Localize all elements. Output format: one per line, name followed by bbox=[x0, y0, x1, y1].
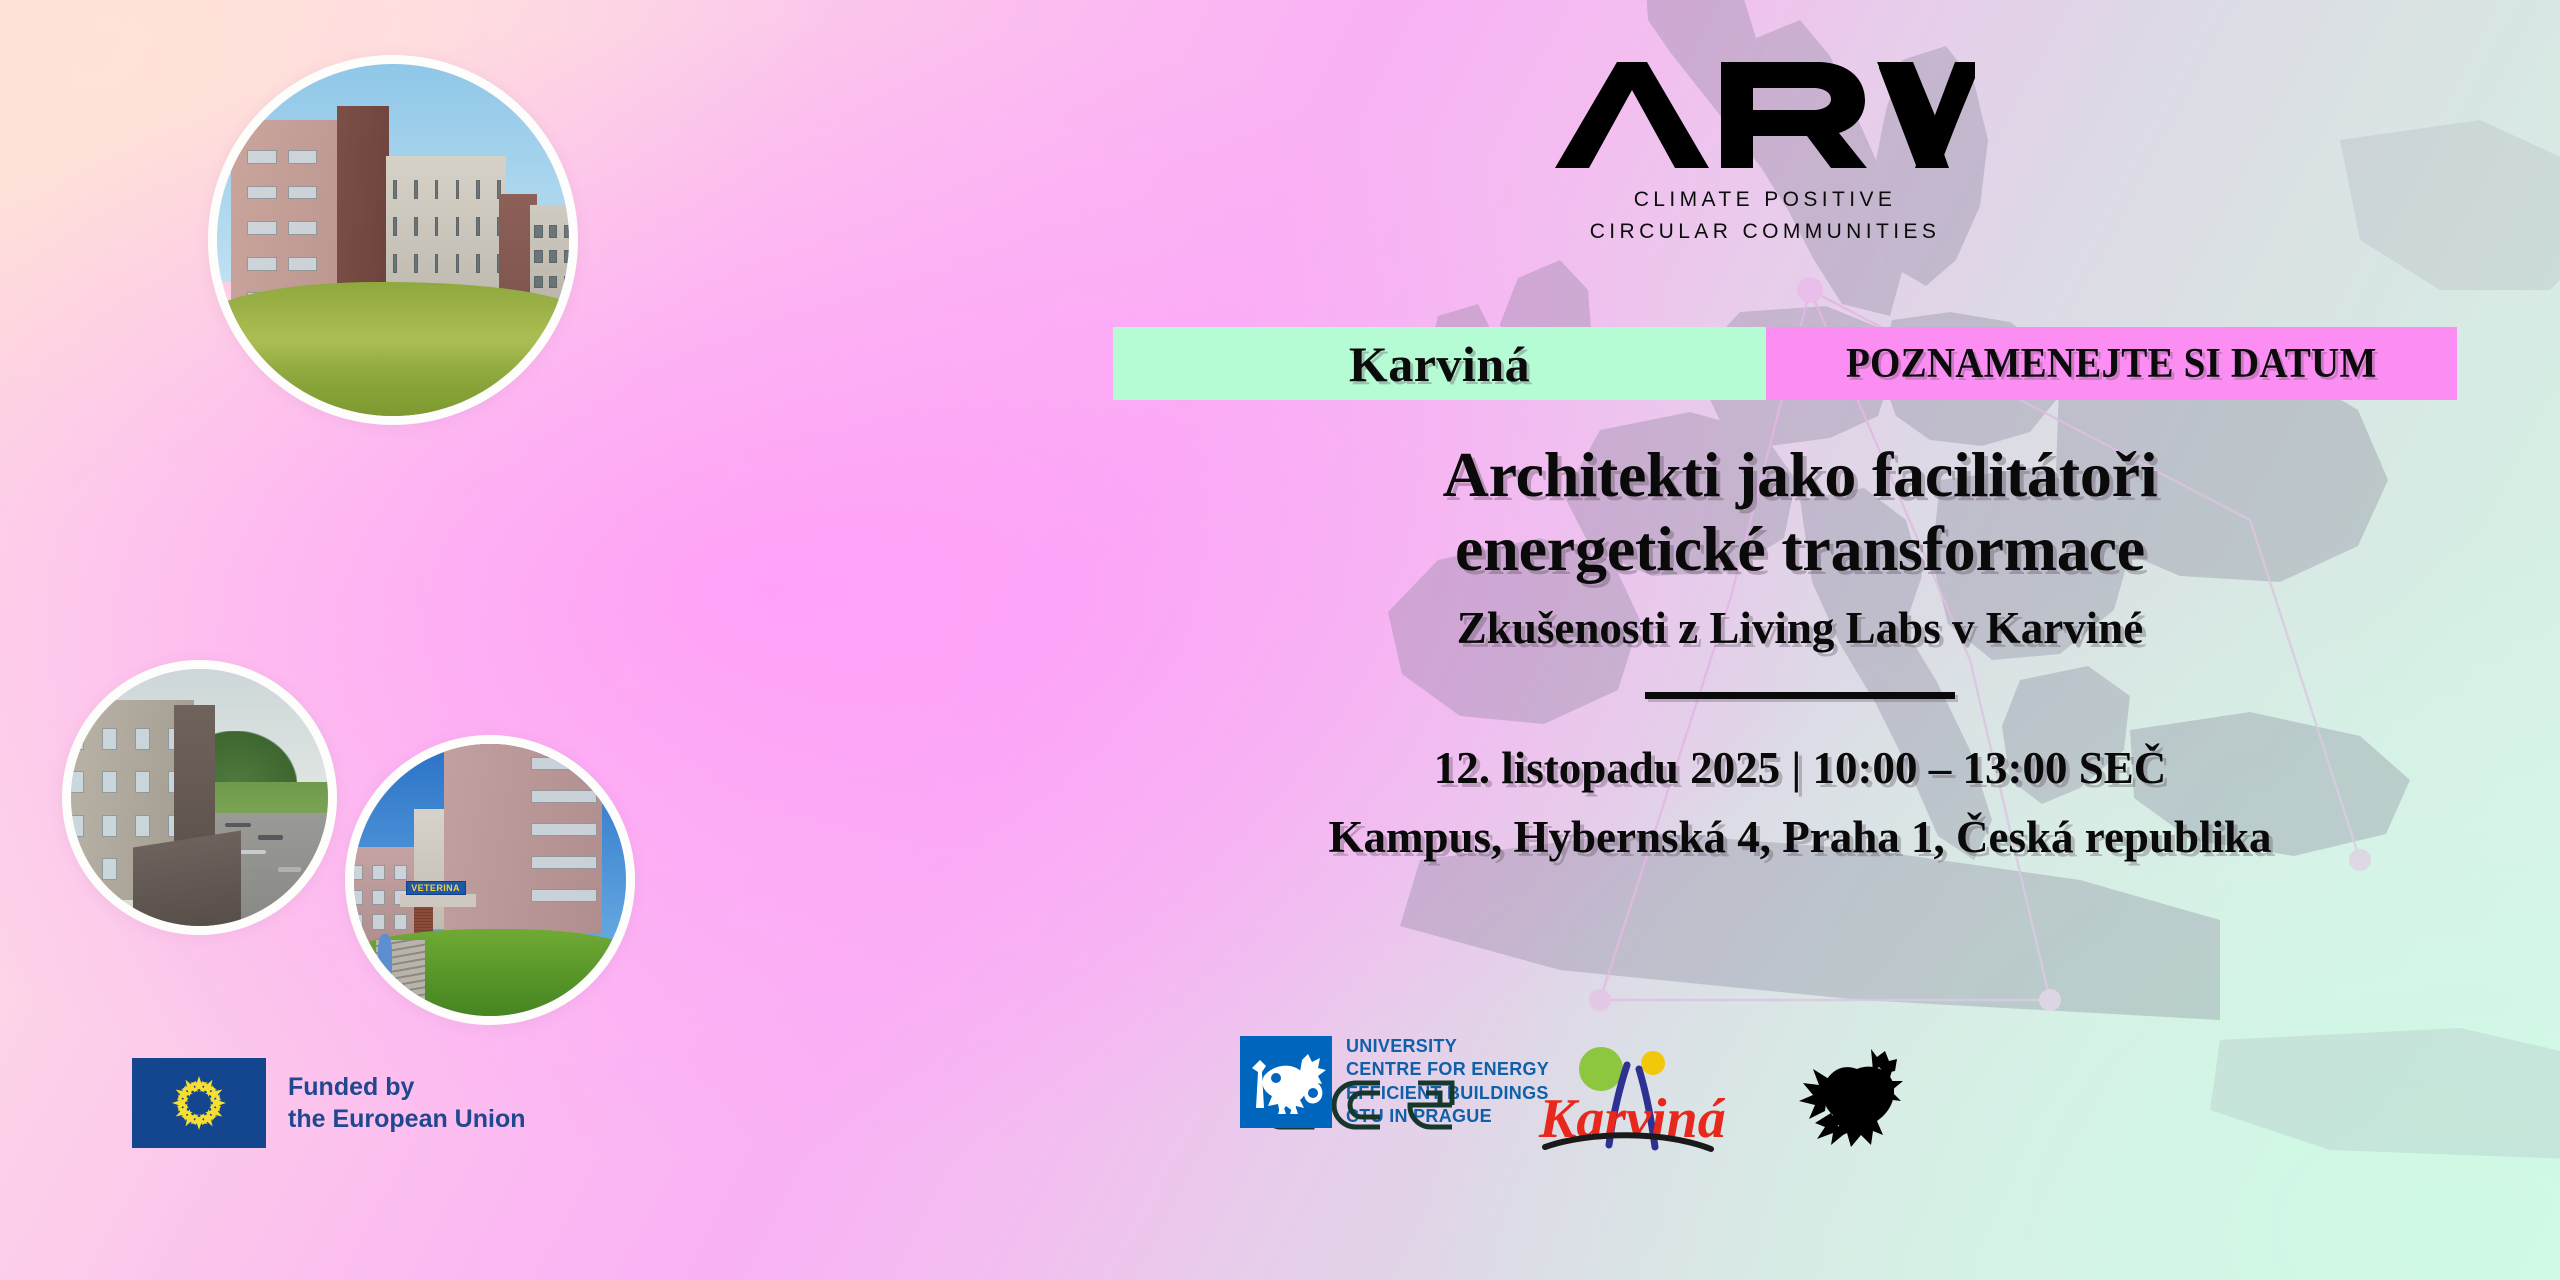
event-subtitle: Zkušenosti z Living Labs v Karviné bbox=[1110, 603, 2490, 654]
partner-logos: Karviná bbox=[1240, 1035, 2450, 1165]
photo-meadow-front bbox=[208, 346, 578, 425]
photo-entrance-canopy bbox=[400, 894, 476, 908]
photo-veterina-sign-text: VETERINA bbox=[407, 882, 465, 894]
city-banner-label: Karviná bbox=[1349, 335, 1530, 393]
eu-funding-line2: the European Union bbox=[288, 1103, 526, 1135]
karvina-city-logo: Karviná bbox=[1535, 1043, 1725, 1155]
arv-tagline: CLIMATE POSITIVE CIRCULAR COMMUNITIES bbox=[1555, 184, 1975, 248]
photo-veterina-sign: VETERINA bbox=[406, 881, 466, 895]
photo-person bbox=[378, 934, 392, 978]
eu-funding-badge: Funded by the European Union bbox=[132, 1058, 526, 1148]
banner-bar-row: Karviná POZNAMENEJTE SI DATUM bbox=[1113, 327, 2457, 400]
czech-lion-logo bbox=[1785, 1043, 1907, 1155]
arv-wordmark-icon bbox=[1555, 62, 1975, 168]
photo-veterina-building: VETERINA bbox=[345, 735, 635, 1025]
eu-funding-text: Funded by the European Union bbox=[288, 1071, 526, 1135]
event-title-line1: Architekti jako facilitátoři bbox=[1110, 440, 2490, 510]
arv-tagline-line2: CIRCULAR COMMUNITIES bbox=[1555, 216, 1975, 248]
arv-logo: CLIMATE POSITIVE CIRCULAR COMMUNITIES bbox=[1555, 62, 1975, 248]
event-datetime: 12. listopadu 2025 | 10:00 – 13:00 SEČ bbox=[1110, 741, 2490, 796]
save-the-date-label: POZNAMENEJTE SI DATUM bbox=[1846, 340, 2377, 388]
city-banner-bar: Karviná bbox=[1113, 327, 1766, 400]
arv-tagline-line1: CLIMATE POSITIVE bbox=[1555, 184, 1975, 216]
photo-campus-building-meadow bbox=[208, 55, 578, 425]
eu-flag-icon bbox=[132, 1058, 266, 1148]
uceeb-line1: UNIVERSITY bbox=[1346, 1035, 1549, 1058]
event-location: Kampus, Hybernská 4, Praha 1, Česká repu… bbox=[1110, 810, 2490, 865]
event-copy-block: Architekti jako facilitátoři energetické… bbox=[1110, 440, 2490, 865]
section-divider bbox=[1645, 692, 1955, 699]
photo-flat-roof bbox=[133, 830, 241, 935]
photo-building-parking-lot bbox=[62, 660, 337, 935]
ctu-emblem-icon bbox=[1240, 1036, 1332, 1128]
event-title-line2: energetické transformace bbox=[1110, 514, 2490, 584]
eu-funding-line1: Funded by bbox=[288, 1071, 526, 1103]
save-the-date-banner-bar: POZNAMENEJTE SI DATUM bbox=[1766, 327, 2457, 400]
